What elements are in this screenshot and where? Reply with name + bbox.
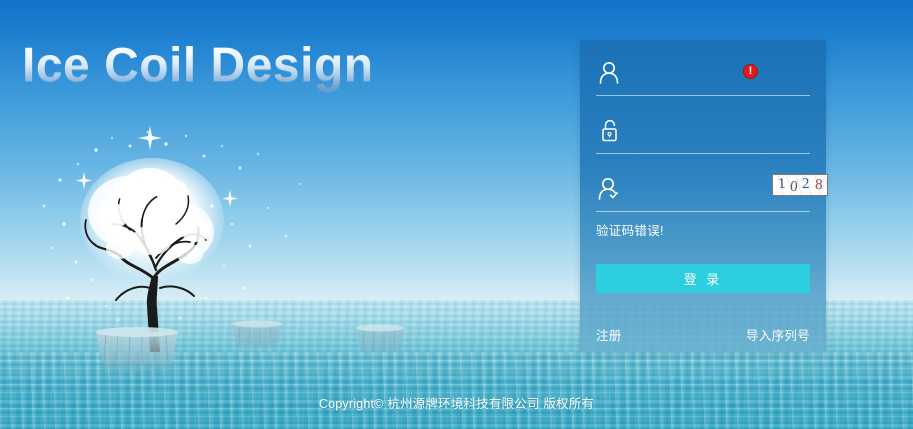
login-button[interactable]: 登 录 bbox=[596, 264, 810, 293]
user-check-icon bbox=[596, 175, 622, 205]
copyright-text: Copyright© 杭州源牌环境科技有限公司 版权所有 bbox=[0, 393, 913, 412]
register-link[interactable]: 注册 bbox=[596, 325, 622, 344]
captcha-underline bbox=[596, 211, 810, 212]
captcha-field-row: 1 0 2 8 bbox=[596, 172, 810, 212]
captcha-error-message: 验证码错误! bbox=[596, 220, 664, 239]
captcha-char: 1 bbox=[777, 176, 785, 191]
username-underline bbox=[596, 95, 810, 96]
page-title: Ice Coil Design bbox=[22, 38, 374, 93]
unlock-icon bbox=[596, 117, 622, 147]
captcha-char: 2 bbox=[802, 176, 810, 191]
panel-links: 注册 导入序列号 bbox=[596, 325, 810, 344]
user-icon bbox=[596, 59, 622, 89]
captcha-char: 8 bbox=[814, 177, 822, 192]
password-underline bbox=[596, 153, 810, 154]
captcha-image[interactable]: 1 0 2 8 bbox=[772, 174, 828, 196]
password-input[interactable] bbox=[628, 114, 810, 146]
username-input[interactable] bbox=[628, 56, 810, 88]
login-page: Ice Coil Design ! bbox=[0, 0, 913, 429]
water-shimmer bbox=[0, 352, 913, 429]
username-field-row: ! bbox=[596, 56, 810, 96]
import-serial-link[interactable]: 导入序列号 bbox=[746, 325, 810, 344]
password-field-row bbox=[596, 114, 810, 154]
login-panel: ! bbox=[580, 40, 826, 352]
captcha-char: 0 bbox=[789, 179, 798, 195]
username-error-badge: ! bbox=[743, 64, 758, 79]
